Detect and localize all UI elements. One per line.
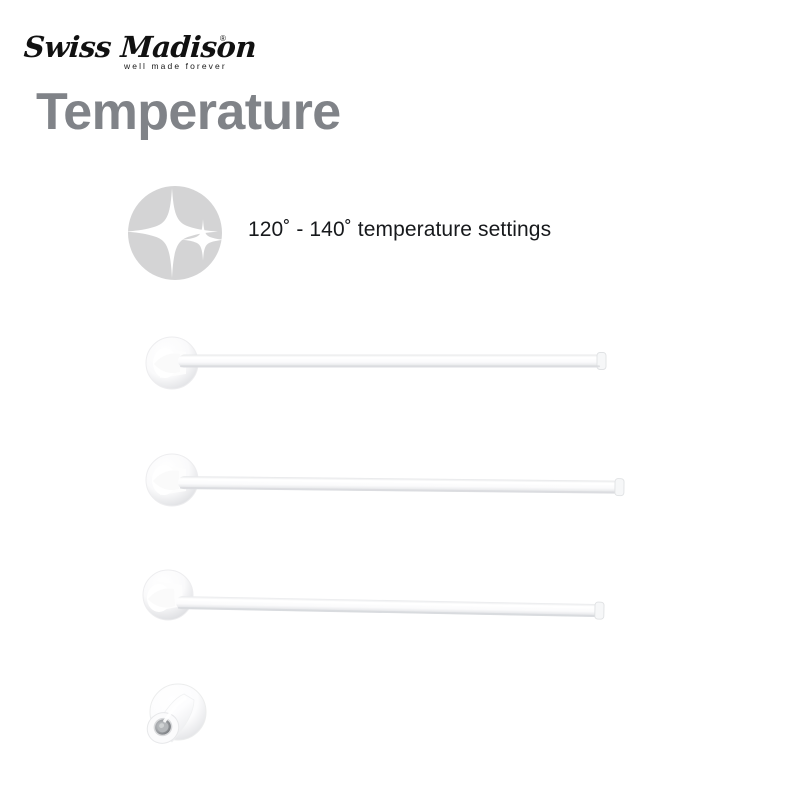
brand-tagline: well made forever [124,61,227,71]
feature-row: 120˚ - 140˚ temperature settings [128,186,728,282]
registered-trademark-icon: ® [220,34,226,43]
product-image-2 [138,448,638,532]
sparkle-star-icon [128,186,222,280]
brand-logo: Swiss Madison ® well made forever [24,30,239,76]
product-spec-page: Swiss Madison ® well made forever Temper… [0,0,800,800]
feature-description: 120˚ - 140˚ temperature settings [248,218,551,242]
page-title: Temperature [36,82,341,142]
product-image-1 [138,330,638,410]
product-image-3 [134,562,634,646]
product-image-4 [128,668,268,778]
